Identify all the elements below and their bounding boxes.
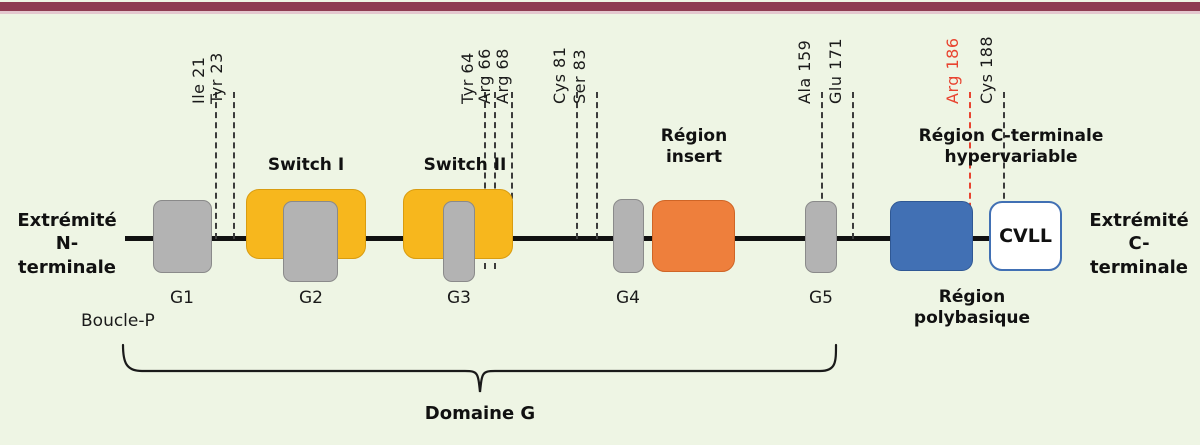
cvll-label: CVLL [991,225,1060,247]
c-terminal-label: Extrémité C-terminale [1080,209,1198,279]
cvll-box: CVLL [989,201,1062,271]
leader-line-ile-21 [215,92,217,239]
g5-label: G5 [791,288,851,308]
g3-box [443,201,475,282]
polybasic-region-box [890,201,973,271]
top-accent-bar [0,2,1200,11]
insert-region-box [652,200,735,272]
backbone-segment [830,236,895,241]
insert-region-label: Région insert [634,126,754,169]
g1-box [153,200,212,273]
g4-label: G4 [598,288,658,308]
g5-box [805,201,837,273]
residue-label-glu-171: Glu 171 [826,38,845,104]
g2-label: G2 [281,288,341,308]
backbone-segment [730,236,815,241]
protein-domain-diagram: Ile 21 Tyr 23 Tyr 64 Arg 66 Arg 68 Cys 8… [0,0,1200,445]
residue-label-cys-188: Cys 188 [977,36,996,104]
g-domain-label: Domaine G [380,403,580,424]
hypervariable-region-label: Région C-terminale hypervariable [886,126,1136,169]
residue-label-arg-186: Arg 186 [943,37,962,104]
switch-1-label: Switch I [246,155,366,176]
residue-label-ala-159: Ala 159 [795,40,814,104]
leader-line-cys-81 [576,92,578,239]
p-loop-label: Boucle-P [81,311,155,331]
top-accent-bar-highlight [0,11,1200,14]
switch-2-label: Switch II [405,155,525,176]
g4-box [613,199,644,273]
leader-line-glu-171 [852,92,854,239]
g1-label: G1 [152,288,212,308]
leader-line-ser-83 [596,92,598,239]
g3-label: G3 [429,288,489,308]
residue-label-cys-81: Cys 81 [550,47,569,104]
residue-label-arg-66: Arg 66 [475,48,494,104]
backbone-segment [505,236,620,241]
residue-label-arg-68: Arg 68 [493,48,512,104]
residue-label-ser-83: Ser 83 [570,49,589,104]
g2-box [283,201,338,282]
polybasic-region-label: Région polybasique [872,287,1072,330]
residue-label-tyr-23: Tyr 23 [207,52,226,104]
residue-label-ile-21: Ile 21 [189,57,208,104]
leader-line-tyr-23 [233,92,235,239]
n-terminal-label: Extrémité N-terminale [8,209,126,279]
